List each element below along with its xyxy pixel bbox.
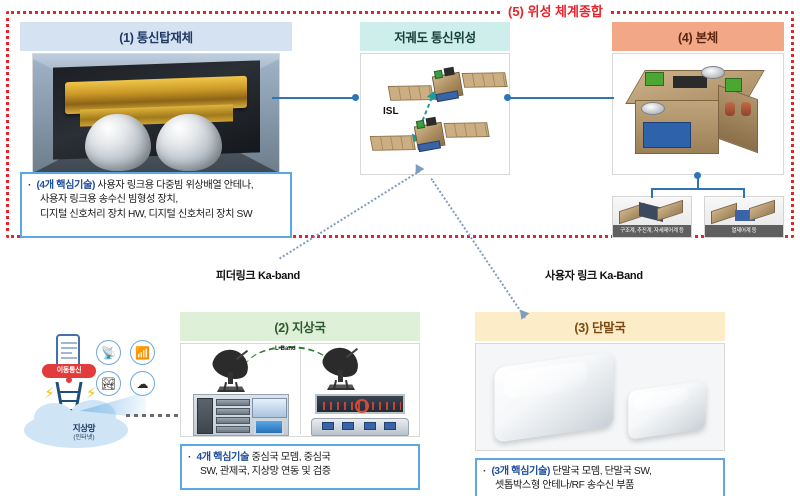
bus-antenna-dish-front: [641, 102, 665, 115]
payload-image: [32, 53, 280, 179]
media-image-icon: 🏞: [96, 371, 121, 396]
panel-title-ground-station: (2) 지상국: [180, 312, 420, 341]
rack-server-unit: [216, 417, 250, 424]
video-wall: [315, 394, 405, 414]
panel-ground-station[interactable]: (2) 지상국 L-Band: [180, 312, 420, 437]
dish-base: [217, 382, 245, 392]
satellite-dark-module: [426, 117, 437, 127]
bus-subcomponent-thermal[interactable]: 열제어계 등: [704, 196, 784, 238]
connector-bus-down: [697, 176, 699, 188]
phone-line: [61, 347, 77, 349]
rack-server-unit: [216, 399, 250, 406]
terrestrial-network-cluster: 이동통신 ⚡ ⚡ 지상망 (인터넷) 📡 📶 🏞 ☁: [4, 334, 164, 444]
parabolic-dish-icon-left: [211, 350, 257, 394]
solar-wing-right: [462, 72, 508, 88]
rack-server-unit: [216, 426, 250, 433]
user-link-label: 사용자 링크 Ka-Band: [545, 267, 643, 283]
connector-payload-to-leo: [272, 97, 354, 99]
bus-subcomponents: 구조계, 추진계, 자세제어계 등 열제어계 등: [612, 196, 784, 238]
tower-beacon: [66, 377, 72, 383]
solar-wing-right: [444, 122, 490, 138]
sub-panel-bit: [749, 200, 775, 221]
video-wall-circle: [355, 399, 369, 413]
panel-title-leo-satellite: 저궤도 통신위성: [360, 22, 510, 51]
bus-propellant-tank-2: [741, 102, 751, 116]
rack-cabinet: [197, 398, 213, 434]
bus-green-box-2: [725, 78, 742, 92]
caption-bullet: ·: [28, 180, 31, 191]
ground-station-image: L-Band: [180, 343, 420, 437]
caption-text-1: 단말국 모뎀, 단말국 SW,: [552, 466, 651, 477]
terminal-gloss: [635, 387, 689, 412]
bus-side-face: [718, 85, 758, 154]
console-monitor: [322, 422, 334, 430]
bus-antenna-dish-top: [701, 66, 725, 79]
panel-title-satellite-bus: (4) 본체: [612, 22, 784, 51]
caption-text-3: 디지털 신호처리 장치 HW, 디지털 신호처리 장치 SW: [28, 208, 284, 222]
satellite-green-module: [416, 120, 425, 129]
panel-satellite-bus[interactable]: (4) 본체: [612, 22, 784, 175]
tower-cross-brace: [60, 391, 78, 393]
bus-black-box: [673, 76, 707, 88]
broadcast-tower-icon: 📶: [130, 340, 155, 365]
caption-bullet: ·: [483, 466, 486, 477]
terminal-antenna-small: [628, 380, 705, 439]
caption-text-2: 사용자 링크용 송수신 빔형성 장치,: [28, 193, 284, 207]
caption-highlight: (3개 핵심기술): [491, 466, 550, 477]
bus-subcomponent-label-structure: 구조계, 추진계, 자세제어계 등: [613, 225, 691, 237]
control-center-illustration: [311, 394, 409, 436]
mobile-comm-badge: 이동통신: [42, 364, 96, 378]
caption-text-1: 중심국 모뎀, 중심국: [251, 452, 330, 463]
system-integration-label: (5) 위성 체계종합: [500, 1, 611, 20]
payload-photo: [33, 54, 279, 178]
rack-monitor: [254, 419, 284, 435]
caption-text-2: SW, 관제국, 지상망 연동 및 검증: [188, 465, 412, 479]
satellite-icon-lower: [368, 108, 491, 168]
cloud-service-icon: ☁: [130, 371, 155, 396]
caption-text-2: 셋톱박스형 안테나/RF 송수신 부품: [483, 479, 717, 493]
bus-green-box-1: [645, 72, 664, 86]
terminal-image: [475, 343, 725, 451]
rack-server-unit: [216, 408, 250, 415]
panel-terminal-station[interactable]: (3) 단말국 · (3개 핵심기술) 단말국 모뎀, 단말국 SW, 셋톱박스…: [475, 312, 725, 451]
terminal-caption: · (3개 핵심기술) 단말국 모뎀, 단말국 SW, 셋톱박스형 안테나/RF…: [475, 458, 725, 496]
connector-sub-bar: [651, 188, 744, 190]
caption-highlight: 4개 핵심기술: [196, 452, 249, 463]
subcomponent-thumb: [705, 198, 784, 226]
solar-wing-left: [370, 135, 416, 151]
ground-station-caption: · 4개 핵심기술 중심국 모뎀, 중심국 SW, 관제국, 지상망 연동 및 …: [180, 444, 420, 490]
diagram-canvas: (5) 위성 체계종합 (1) 통신탑재체 · (4개 핵심기술) 사용자 링크…: [0, 0, 800, 496]
connector-sub-right-drop: [743, 188, 745, 198]
terminal-gloss: [504, 361, 587, 400]
dish-base: [327, 380, 355, 390]
satellite-dark-module: [444, 67, 455, 77]
satellite-bus-render: [629, 70, 769, 162]
satellite-data-icon: 📡: [96, 340, 121, 365]
subcomponent-thumb: [613, 198, 692, 226]
leo-satellite-image: ISL: [360, 53, 510, 175]
tower-cross-brace: [60, 400, 78, 402]
console-monitor: [384, 422, 396, 430]
phone-line: [61, 352, 72, 354]
terrestrial-network-sublabel: (인터넷): [4, 432, 164, 441]
lband-label: L-Band: [275, 346, 296, 352]
panel-title-terminal-station: (3) 단말국: [475, 312, 725, 341]
phone-line: [61, 357, 77, 359]
operator-console-desk: [311, 418, 409, 436]
service-icon-group: 📡 📶 🏞 ☁: [96, 340, 164, 398]
terminal-antenna-large: [495, 351, 614, 442]
parabolic-dish-icon-right: [321, 348, 367, 392]
bus-propellant-tank-1: [725, 102, 735, 116]
caption-highlight: (4개 핵심기술): [36, 180, 95, 191]
panel-leo-satellite[interactable]: 저궤도 통신위성 ISL: [360, 22, 510, 175]
satellite-icon-upper: [386, 58, 509, 118]
isl-label: ISL: [383, 106, 399, 117]
server-rack-illustration: [193, 394, 289, 436]
panel-communication-payload[interactable]: (1) 통신탑재체 · (4개 핵심기술) 사용자 링크용 다중빔 위상배열 안…: [20, 22, 292, 179]
console-monitor: [364, 422, 376, 430]
bus-blue-panel: [643, 122, 691, 148]
sub-panel-bit: [711, 203, 737, 224]
connector-sub-left-drop: [651, 188, 653, 198]
rack-screen: [252, 398, 287, 418]
sub-panel-bit: [657, 200, 683, 221]
network-to-ground-station-line: [126, 414, 182, 417]
payload-caption: · (4개 핵심기술) 사용자 링크용 다중빔 위상배열 안테나, 사용자 링크…: [20, 172, 292, 238]
satellite-green-module: [434, 70, 443, 79]
feeder-link-label: 피더링크 Ka-band: [216, 267, 300, 283]
panel-title-communication-payload: (1) 통신탑재체: [20, 22, 292, 51]
satellite-bus-image: [612, 53, 784, 175]
caption-bullet: ·: [188, 452, 191, 463]
phone-line: [61, 342, 77, 344]
caption-text-1: 사용자 링크용 다중빔 위상배열 안테나,: [97, 180, 253, 191]
connector-leo-to-bus: [508, 97, 614, 99]
bus-subcomponent-label-thermal: 열제어계 등: [705, 225, 783, 237]
bus-subcomponent-structure[interactable]: 구조계, 추진계, 자세제어계 등: [612, 196, 692, 238]
console-monitor: [342, 422, 354, 430]
